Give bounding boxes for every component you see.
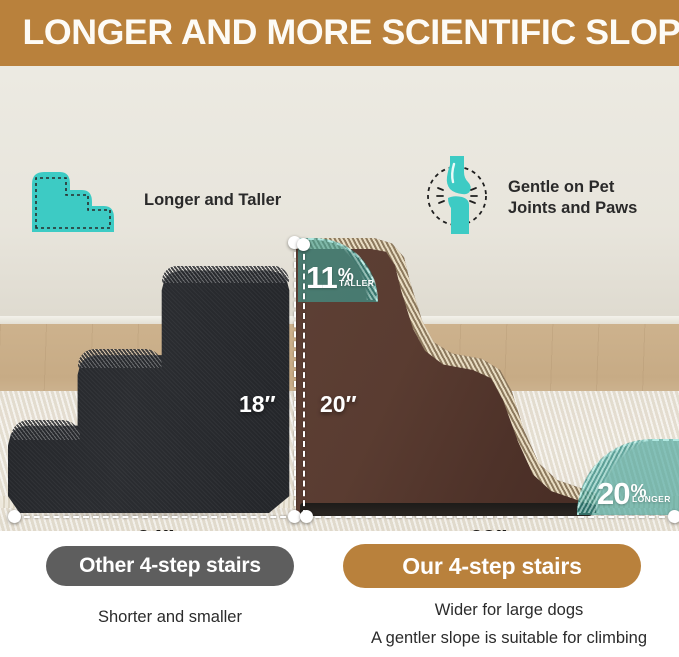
feature-gentle-joints: Gentle on Pet Joints and Paws [420, 156, 637, 239]
height-label-other: 18″ [239, 391, 276, 418]
header-banner: LONGER AND MORE SCIENTIFIC SLOPE [0, 0, 679, 66]
infographic-page: LONGER AND MORE SCIENTIFIC SLOPE [0, 0, 679, 657]
other-stairs-tread-2 [78, 349, 162, 367]
width-label-other: 24″ [137, 525, 174, 531]
taller-badge-sublabel: TALLER [339, 278, 374, 288]
other-stairs-tread-1 [11, 420, 81, 440]
other-stairs-tread-3 [162, 266, 290, 283]
height-guide-other [294, 242, 296, 516]
our-stairs-pill: Our 4-step stairs [343, 544, 641, 588]
our-stairs-caption-1: Wider for large dogs [339, 601, 679, 620]
guide-dot-ours-left [300, 510, 313, 523]
width-guide-other [14, 516, 296, 518]
feature-gentle-joints-label: Gentle on Pet Joints and Paws [508, 177, 637, 217]
other-stairs-caption: Shorter and smaller [0, 608, 340, 627]
height-guide-ours [303, 244, 305, 516]
other-stairs-product [8, 231, 298, 513]
feature-longer-taller: Longer and Taller [30, 162, 281, 239]
guide-dot-other-left [8, 510, 21, 523]
feature-gentle-joints-line1: Gentle on Pet [508, 178, 614, 196]
height-label-ours: 20″ [320, 391, 357, 418]
width-label-ours: 29″ [470, 525, 507, 531]
longer-badge-number: 20 [597, 478, 629, 509]
taller-badge-number: 11 [306, 262, 337, 293]
guide-dot-ours-top [297, 238, 310, 251]
our-stairs-caption-2: A gentler slope is suitable for climbing [339, 629, 679, 648]
our-stairs-base [300, 503, 592, 516]
guide-dot-ours-right [668, 510, 679, 523]
page-title: LONGER AND MORE SCIENTIFIC SLOPE [0, 13, 679, 53]
pet-joint-icon [420, 156, 494, 239]
feature-gentle-joints-line2: Joints and Paws [508, 199, 637, 217]
width-guide-ours [305, 516, 675, 518]
stairs-icon [30, 162, 130, 239]
other-stairs-pill: Other 4-step stairs [46, 546, 294, 586]
product-comparison-scene: 18″ 20″ 24″ 29″ 11 % TALLER 20 % LONGER … [0, 66, 679, 531]
feature-longer-taller-label: Longer and Taller [144, 190, 281, 210]
longer-badge-sublabel: LONGER [632, 494, 671, 504]
